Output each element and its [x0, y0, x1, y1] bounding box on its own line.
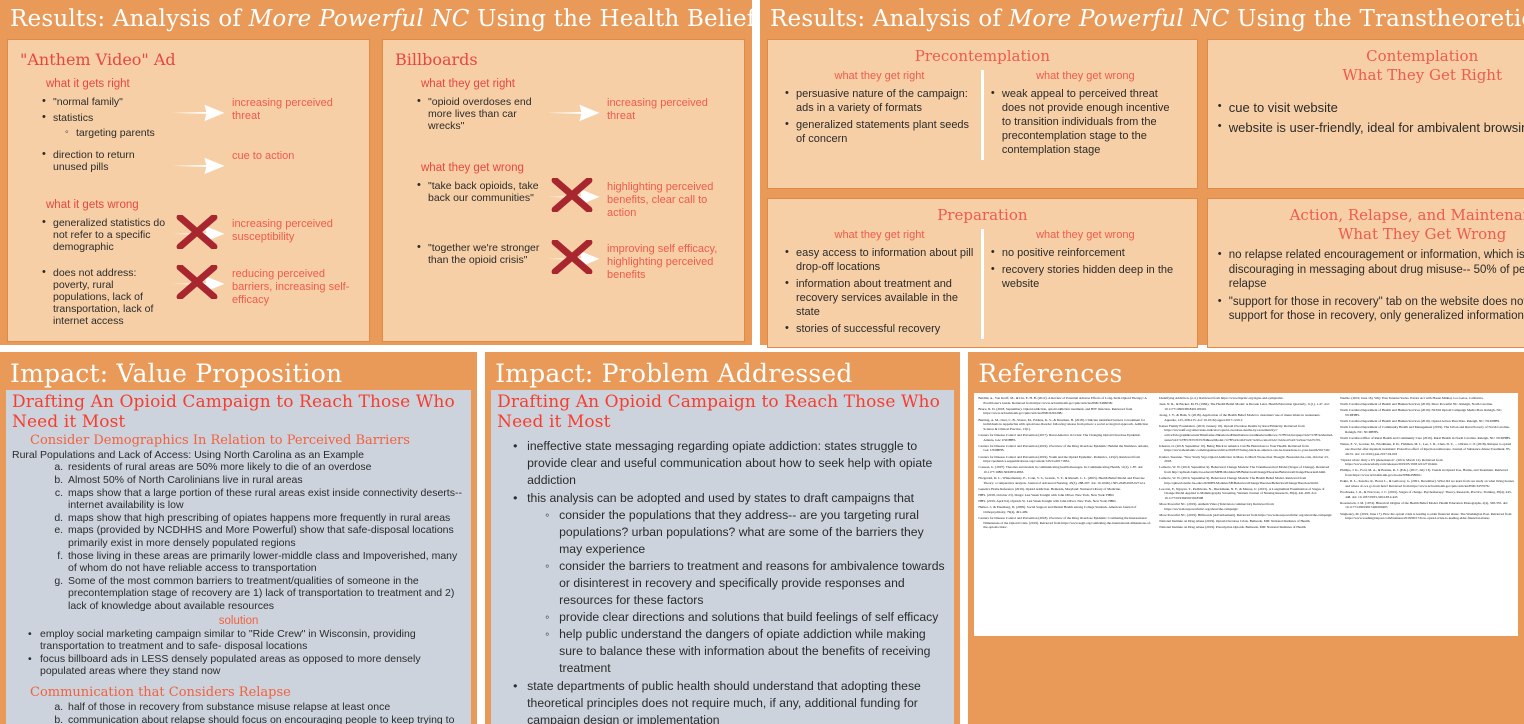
- reference-entry: Centers for Disease Control and Preventi…: [978, 455, 1152, 464]
- preparation-split: what they get right easy access to infor…: [778, 229, 1187, 339]
- list-item-label: statistics: [53, 112, 93, 124]
- reference-entry: Jeong, J. Y., & Ham, S. (2018). Applicat…: [1159, 413, 1333, 422]
- bottom-row: Impact: Value Proposition Drafting An Op…: [0, 352, 1524, 724]
- list-item: ineffective state messaging regarding op…: [513, 438, 948, 489]
- problem-addressed-list: ineffective state messaging regarding op…: [513, 438, 948, 724]
- reference-entry: Kaiser Family Foundation. (2019, January…: [1159, 424, 1333, 442]
- list-subitem: consider the barriers to treatment and r…: [545, 558, 948, 609]
- problem-addressed-body: Drafting An Opioid Campaign to Reach Tho…: [491, 390, 954, 724]
- list-item: stories of successful recovery: [785, 322, 974, 336]
- reference-entry: National Institute on Drug Abuse (2019).…: [1159, 519, 1333, 524]
- value-proposition-section2-list: half of those in recovery from substance…: [66, 701, 465, 724]
- precontemplation-wrong-col: what they get wrong weak appeal to perce…: [984, 70, 1187, 160]
- list-subitem: consider the populations that they addre…: [545, 507, 948, 558]
- action-heading-line1: Action, Relapse, and Maintenance:: [1290, 206, 1524, 224]
- problem-addressed-title: Impact: Problem Addressed: [495, 358, 954, 389]
- reference-entry: Phillips, J. K., Ford, M. A., & Bonnie, …: [1340, 468, 1514, 477]
- list-item: statistics targeting parents: [42, 112, 170, 139]
- reference-entry: Identifying Addiction. (n.d.). Retrieved…: [1159, 396, 1333, 401]
- list-item: no positive reinforcement: [991, 246, 1180, 260]
- preparation-card: Preparation what they get right easy acc…: [767, 198, 1198, 348]
- billboards-wrong-result-2: improving self efficacy, highlighting pe…: [607, 242, 732, 282]
- value-proposition-section1-list: residents of rural areas are 50% more li…: [66, 461, 465, 612]
- list-item: maps show that a large portion of these …: [66, 487, 465, 512]
- problem-addressed-panel: Impact: Problem Addressed Drafting An Op…: [485, 352, 960, 724]
- reference-entry: Lee-Lin, F., Nguyen, T., Pedhiwala, N., …: [1159, 487, 1333, 501]
- list-item: "take back opioids, take back our commun…: [417, 180, 545, 204]
- reference-entry: HHS. (2018, October 23). Drugs: Last Wee…: [978, 493, 1152, 498]
- billboards-wrong-row-2-items: "together we're stronger than the opioid…: [395, 242, 545, 270]
- contemplation-heading: Contemplation What They Get Right: [1218, 47, 1524, 85]
- action-heading-line2: What They Get Wrong: [1338, 225, 1506, 243]
- list-item: generalized statements plant seeds of co…: [785, 118, 974, 146]
- anthem-wrong-row-2: does not address: poverty, rural populat…: [20, 267, 357, 331]
- reference-entry: Bunting, A. M., Oser, C. B., Staton, M.,…: [978, 418, 1152, 432]
- reference-entry: HHS. (2019, April 04). Opioids St. Last …: [978, 499, 1152, 504]
- preparation-heading: Preparation: [778, 206, 1187, 225]
- list-item: "opioid overdoses end more lives than ca…: [417, 96, 545, 132]
- reference-entry: North Carolina Department of Community H…: [1340, 425, 1514, 434]
- reference-entry: Lamorte, W. W. (2019, September 9). Beha…: [1159, 476, 1333, 485]
- problem-addressed-headline: Drafting An Opioid Campaign to Reach Tho…: [497, 392, 948, 432]
- reference-entry: "Opioid crisis: Only a US phenomenon". (…: [1340, 458, 1514, 467]
- anthem-arrow-slot-1: [170, 96, 232, 130]
- hbm-title-part1: Results: Analysis of: [10, 6, 249, 32]
- list-item: weak appeal to perceived threat does not…: [991, 87, 1180, 157]
- list-item-label: this analysis can be adopted and used by…: [527, 491, 914, 505]
- reference-entry: Prochaska, J. O., & Norcross, J. C. (200…: [1340, 490, 1514, 499]
- list-item: cue to visit website: [1218, 99, 1524, 116]
- arrow-icon: [170, 102, 228, 122]
- reference-entry: North Carolina Office of Rural Health an…: [1340, 436, 1514, 441]
- billboards-card-heading: Billboards: [395, 50, 732, 69]
- precontemplation-card: Precontemplation what they get right per…: [767, 39, 1198, 189]
- anthem-right-row-1-items: "normal family" statistics targeting par…: [20, 96, 170, 143]
- anthem-wrong-row-1-items: generalized statistics do not refer to a…: [20, 217, 170, 257]
- arrow-icon: [170, 155, 228, 175]
- transtheoretical-model-panel: Results: Analysis of More Powerful NC Us…: [760, 0, 1524, 345]
- value-proposition-section1-heading: Consider Demographics In Relation to Per…: [30, 433, 465, 448]
- top-row: Results: Analysis of More Powerful NC Us…: [0, 0, 1524, 345]
- reference-entry: Khazan, O. (2018, September 10). Being B…: [1159, 444, 1333, 453]
- list-item: "normal family": [42, 96, 170, 108]
- list-item: website is user-friendly, ideal for ambi…: [1218, 119, 1524, 136]
- value-proposition-body: Drafting An Opioid Campaign to Reach Tho…: [6, 390, 471, 724]
- billboards-wrong-result-1: highlighting perceived benefits, clear c…: [607, 180, 732, 220]
- list-item: employ social marketing campaign similar…: [28, 628, 465, 653]
- ttm-cards-grid: Precontemplation what they get right per…: [767, 39, 1524, 348]
- solution-label-1: solution: [12, 615, 465, 627]
- reference-entry: Lamorte, W. W. (2019, September 9). Beha…: [1159, 465, 1333, 474]
- list-item: "together we're stronger than the opioid…: [417, 242, 545, 266]
- reference-entry: More Powerful NC. (2019). Anthem Video […: [1159, 502, 1333, 511]
- list-item: persuasive nature of the campaign: ads i…: [785, 87, 974, 115]
- list-item: information about treatment and recovery…: [785, 277, 974, 319]
- list-subitem: targeting parents: [65, 127, 170, 139]
- list-item: Some of the most common barriers to trea…: [66, 575, 465, 613]
- anthem-right-row-1: "normal family" statistics targeting par…: [20, 96, 357, 143]
- reference-entry: North Carolina Department of Health and …: [1340, 419, 1514, 424]
- reference-entry: Jaen, N. R., & Becker, M. H. (1984). The…: [1159, 402, 1333, 411]
- anthem-x-slot-1: [170, 217, 232, 251]
- billboards-x-slot-2: [545, 242, 607, 276]
- list-subitem: help public understand the dangers of op…: [545, 626, 948, 677]
- contemplation-heading-line2: What They Get Right: [1342, 66, 1502, 84]
- billboards-right-row-1-items: "opioid overdoses end more lives than ca…: [395, 96, 545, 136]
- list-item: focus billboard ads in LESS densely popu…: [28, 653, 465, 678]
- hbm-title-italic: More Powerful NC: [249, 6, 470, 32]
- reference-entry: Hefner, J., & Eisenberg, D. (2009). Soci…: [978, 505, 1152, 514]
- x-mark-icon: [549, 178, 595, 212]
- list-item: generalized statistics do not refer to a…: [42, 217, 170, 253]
- action-relapse-maintenance-card: Action, Relapse, and Maintenance: What T…: [1207, 198, 1524, 348]
- health-belief-model-panel: Results: Analysis of More Powerful NC Us…: [0, 0, 752, 345]
- reference-entry: Pokin, D. L., Kuscha, R., Bond, L., & Ga…: [1340, 479, 1514, 488]
- x-mark-icon: [174, 265, 220, 299]
- billboards-x-slot-1: [545, 180, 607, 214]
- list-item: direction to return unused pills: [42, 149, 170, 173]
- anthem-wrong-row-1: generalized statistics do not refer to a…: [20, 217, 357, 257]
- reference-entry: North Carolina Department of Health and …: [1340, 402, 1514, 407]
- list-item: no relapse related encouragement or info…: [1218, 248, 1524, 292]
- preparation-right-col: what they get right easy access to infor…: [778, 229, 984, 339]
- list-item: residents of rural areas are 50% more li…: [66, 461, 465, 474]
- reference-entry: Naeble. (2019, June 16). Why Your Intern…: [1340, 396, 1514, 401]
- list-item: does not address: poverty, rural populat…: [42, 267, 170, 327]
- billboards-right-label: what they get right: [421, 78, 732, 90]
- x-mark-icon: [549, 240, 595, 274]
- references-panel: References Baldini, A., Von Korff, M., &…: [968, 352, 1524, 724]
- reference-entry: Rosenstock, I. M. (1974). Historical Ori…: [1340, 501, 1514, 510]
- anthem-wrong-label: what it gets wrong: [46, 199, 357, 211]
- anthem-x-slot-2: [170, 267, 232, 301]
- precontemplation-right-label: what they get right: [785, 70, 974, 82]
- preparation-right-label: what they get right: [785, 229, 974, 241]
- poster-root: Results: Analysis of More Powerful NC Us…: [0, 0, 1524, 724]
- list-item: Almost 50% of North Carolinians live in …: [66, 474, 465, 487]
- precontemplation-wrong-label: what they get wrong: [991, 70, 1180, 82]
- list-item: communication about relapse should focus…: [66, 714, 465, 724]
- ttm-title-part1: Results: Analysis of: [770, 6, 1009, 32]
- billboards-wrong-row-1: "take back opioids, take back our commun…: [395, 180, 732, 220]
- contemplation-card: Contemplation What They Get Right cue to…: [1207, 39, 1524, 189]
- value-proposition-section2-heading: Communication that Considers Relapse: [30, 685, 465, 700]
- hbm-panel-title: Results: Analysis of More Powerful NC Us…: [10, 5, 745, 34]
- list-item: recovery stories hidden deep in the webs…: [991, 263, 1180, 291]
- reference-entry: Centers for Disease Control and Preventi…: [978, 433, 1152, 442]
- x-mark-icon: [174, 215, 220, 249]
- anthem-video-card: "Anthem Video" Ad what it gets right "no…: [7, 39, 370, 342]
- anthem-wrong-result-2: reducing perceived barriers, increasing …: [232, 267, 357, 307]
- list-item: half of those in recovery from substance…: [66, 701, 465, 714]
- value-proposition-solutions-1: employ social marketing campaign similar…: [28, 628, 465, 678]
- anthem-right-row-2: direction to return unused pills cue to …: [20, 149, 357, 183]
- anthem-right-label: what it gets right: [46, 78, 357, 90]
- reference-entry: Cresson, G. (2007). Theories and models …: [978, 465, 1152, 474]
- reference-entry: Singletary, M. (2019, June 17). How the …: [1340, 512, 1514, 521]
- anthem-right-row-2-items: direction to return unused pills: [20, 149, 170, 177]
- list-item: state departments of public health shoul…: [513, 678, 948, 724]
- billboards-right-row-1: "opioid overdoses end more lives than ca…: [395, 96, 732, 136]
- ttm-title-italic: More Powerful NC: [1009, 6, 1230, 32]
- arrow-icon: [545, 102, 603, 122]
- list-item: maps show that high prescribing of opiat…: [66, 512, 465, 525]
- ttm-title-part2: Using the Transtheoretical Model: [1230, 6, 1524, 32]
- reference-entry: Nunes, E. V., Gordon, M., Friedmann, P. …: [1340, 442, 1514, 456]
- billboards-card: Billboards what they get right "opioid o…: [382, 39, 745, 342]
- reference-entry: Bruce, R. D. (2018, September). Opioid a…: [978, 407, 1152, 416]
- billboards-wrong-label: what they get wrong: [421, 162, 732, 174]
- billboards-arrow-slot-1: [545, 96, 607, 130]
- list-item: maps (provided by NCDHHS and More Powerf…: [66, 524, 465, 549]
- contemplation-heading-line1: Contemplation: [1366, 47, 1478, 65]
- reference-entry: Fitzgerald, D. L., Wintermantey, E., Con…: [978, 476, 1152, 485]
- value-proposition-panel: Impact: Value Proposition Drafting An Op…: [0, 352, 477, 724]
- value-proposition-headline: Drafting An Opioid Campaign to Reach Tho…: [12, 392, 465, 432]
- value-proposition-section1-lead: Rural Populations and Lack of Access: Us…: [12, 449, 465, 461]
- anthem-right-result-2: cue to action: [232, 149, 357, 163]
- billboards-wrong-row-2: "together we're stronger than the opioid…: [395, 242, 732, 282]
- billboards-right-result-1: increasing perceived threat: [607, 96, 732, 123]
- list-item-label: ineffective state messaging regarding op…: [527, 439, 932, 487]
- anthem-card-heading: "Anthem Video" Ad: [20, 50, 357, 69]
- reference-entry: Centers for Disease Control and Preventi…: [978, 516, 1152, 530]
- reference-entry: Baldini, A., Von Korff, M., & Lin, E. H.…: [978, 396, 1152, 405]
- reference-entry: Kreiter, Suzanne. "New Study Says Opioid…: [1159, 455, 1333, 464]
- problem-addressed-sublist-1: consider the populations that they addre…: [545, 507, 948, 677]
- reference-entry: Centers for Disease Control and Preventi…: [978, 444, 1152, 453]
- list-item: "support for those in recovery" tab on t…: [1218, 295, 1524, 324]
- anthem-arrow-slot-2: [170, 149, 232, 183]
- anthem-right-result-1: increasing perceived threat: [232, 96, 357, 123]
- list-subitem: provide clear directions and solutions t…: [545, 609, 948, 626]
- reference-entry: Genetics Home Reference (2019). Opioid A…: [978, 487, 1152, 492]
- precontemplation-split: what they get right persuasive nature of…: [778, 70, 1187, 160]
- list-item: those living in these areas are primaril…: [66, 550, 465, 575]
- preparation-wrong-col: what they get wrong no positive reinforc…: [984, 229, 1187, 339]
- anthem-wrong-result-1: increasing perceived susceptibility: [232, 217, 357, 244]
- list-item-label: state departments of public health shoul…: [527, 679, 921, 724]
- value-proposition-title: Impact: Value Proposition: [10, 358, 471, 389]
- precontemplation-right-col: what they get right persuasive nature of…: [778, 70, 984, 160]
- preparation-wrong-label: what they get wrong: [991, 229, 1180, 241]
- precontemplation-heading: Precontemplation: [778, 47, 1187, 66]
- hbm-cards: "Anthem Video" Ad what it gets right "no…: [7, 39, 745, 342]
- list-item: this analysis can be adopted and used by…: [513, 490, 948, 677]
- ttm-panel-title: Results: Analysis of More Powerful NC Us…: [770, 5, 1524, 34]
- reference-entry: North Carolina Department of Health and …: [1340, 408, 1514, 417]
- billboards-wrong-row-1-items: "take back opioids, take back our commun…: [395, 180, 545, 208]
- list-item: easy access to information about pill dr…: [785, 246, 974, 274]
- reference-entry: National Institute on Drug Abuse (2019).…: [1159, 525, 1333, 530]
- references-list: Baldini, A., Von Korff, M., & Lin, E. H.…: [974, 393, 1518, 636]
- reference-entry: More Powerful NC. (2019). Billboards [Ad…: [1159, 513, 1333, 518]
- anthem-wrong-row-2-items: does not address: poverty, rural populat…: [20, 267, 170, 331]
- action-heading: Action, Relapse, and Maintenance: What T…: [1218, 206, 1524, 244]
- references-title: References: [978, 358, 1518, 389]
